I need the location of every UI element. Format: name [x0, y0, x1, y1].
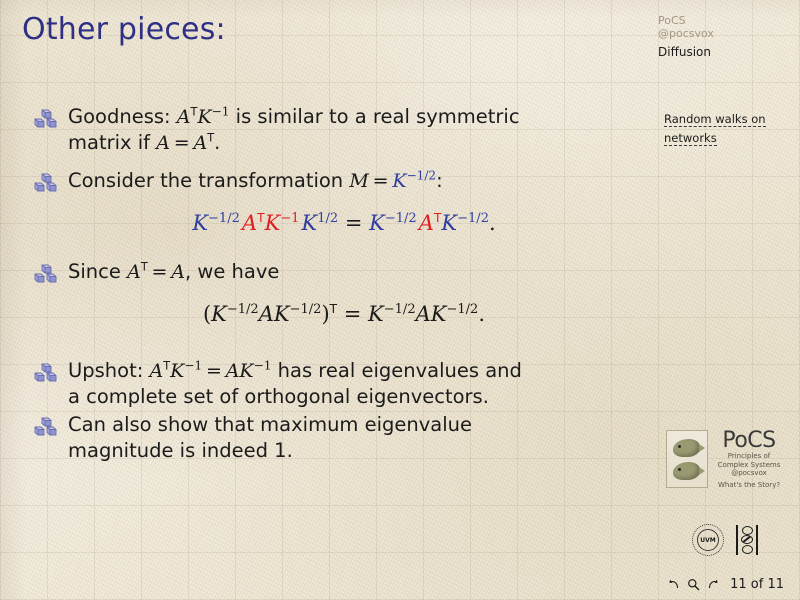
list-item: Can also show that maximum eigenvalue ma…: [34, 412, 654, 464]
toc-block[interactable]: Random walks on networks: [664, 108, 782, 146]
math-A: A: [150, 360, 164, 382]
header-block: PoCS @pocsvox Diffusion: [658, 14, 782, 60]
bullet5-line2: magnitude is indeed 1.: [68, 439, 293, 462]
pocs-logo[interactable]: PoCS Principles of Complex Systems @pocs…: [666, 430, 784, 494]
pocs-sub-1: Principles of: [714, 452, 784, 461]
fish-image: [666, 430, 708, 488]
display-equation-2: (K−1/2AK−1/2)T = K−1/2AK−1/2.: [34, 302, 654, 326]
math-A: A: [177, 106, 191, 128]
eq2-rparen: ): [321, 302, 329, 326]
spacer: [34, 158, 654, 168]
oso-logo-icon[interactable]: [736, 525, 758, 555]
list-item: Since AT = A, we have: [34, 259, 654, 290]
eq2-K1: K: [211, 302, 227, 326]
undo-arrow-icon[interactable]: [666, 577, 681, 592]
eq1-K5: K: [441, 211, 457, 235]
pocs-sub-2: Complex Systems: [714, 461, 784, 470]
list-item-text: Consider the transformation M = K−1/2:: [68, 168, 654, 194]
pocs-logo-text: PoCS Principles of Complex Systems @pocs…: [708, 430, 784, 490]
redo-arrow-icon[interactable]: [706, 577, 721, 592]
header-deck-title: Diffusion: [658, 45, 782, 60]
math-A: A: [127, 261, 141, 283]
oso-ring-icon: [742, 545, 753, 554]
math-equals: =: [202, 360, 226, 382]
eq1-A: A: [240, 211, 257, 235]
fish-icon: [673, 462, 700, 480]
bullet4-line2: a complete set of orthogonal eigenvector…: [68, 385, 489, 408]
bullet1-mid: is similar to a real symmetric: [229, 105, 519, 128]
spacer: [34, 340, 654, 358]
pocs-tagline: What's the Story?: [714, 480, 784, 490]
math-A: A: [226, 360, 240, 382]
eq1-K1: K: [192, 211, 208, 235]
bullet5-line1: Can also show that maximum eigenvalue: [68, 413, 472, 436]
math-K: K: [170, 360, 184, 382]
eq2-A2: A: [416, 302, 431, 326]
spacer: [34, 249, 654, 259]
math-equals: =: [170, 132, 194, 154]
math-exp-neg-half: −1/2: [407, 169, 437, 183]
magnifier-icon[interactable]: [686, 577, 701, 592]
list-item: Consider the transformation M = K−1/2:: [34, 168, 654, 199]
pocs-logo-name: PoCS: [714, 430, 784, 452]
math-exp-neg-one: −1: [184, 359, 202, 373]
oso-slash-icon: [741, 535, 753, 544]
bullet4-prefix: Upshot:: [68, 359, 150, 382]
bullet1-line2-suffix: .: [214, 131, 220, 154]
math-exp-neg-one: −1: [212, 105, 230, 119]
bullet1-prefix: Goodness:: [68, 105, 177, 128]
eq1-K4: K: [369, 211, 385, 235]
bullet4-mid: has real eigenvalues and: [271, 359, 521, 382]
bullet1-line2-prefix: matrix if: [68, 131, 156, 154]
bullet3-suffix: , we have: [185, 260, 279, 283]
eq1-transpose: T: [257, 211, 264, 225]
bullet2-prefix: Consider the transformation: [68, 169, 349, 192]
uvm-mark-label: UVM: [700, 537, 716, 544]
header-brand-pocs: PoCS: [658, 14, 782, 27]
header-brand-handle: @pocsvox: [658, 27, 782, 40]
eq1-period: .: [489, 211, 496, 235]
blocks-icon: [34, 168, 68, 199]
math-exp-neg-one: −1: [254, 359, 272, 373]
math-K: K: [239, 360, 253, 382]
fish-icon: [673, 439, 700, 457]
eq2-K3: K: [368, 302, 384, 326]
content-body: Goodness: ATK−1 is similar to a real sym…: [34, 104, 654, 466]
math-K-blue: K: [392, 170, 406, 192]
eq1-exp4: −1/2: [385, 211, 417, 226]
eq2-K2: K: [274, 302, 290, 326]
navigation-footer: 11 of 11: [666, 577, 784, 592]
eq1-equals: =: [338, 211, 369, 235]
blocks-icon: [34, 358, 68, 389]
math-A: A: [156, 132, 170, 154]
bullet2-suffix: :: [436, 169, 443, 192]
eq2-exp3: −1/2: [384, 302, 416, 317]
eq2-lparen: (: [203, 302, 211, 326]
page-counter: 11 of 11: [730, 577, 784, 592]
eq2-exp1: −1/2: [227, 302, 259, 317]
math-equals: =: [148, 261, 172, 283]
institution-logos: UVM: [692, 524, 758, 556]
eq2-exp2: −1/2: [290, 302, 322, 317]
blocks-icon: [34, 259, 68, 290]
math-A: A: [171, 261, 185, 283]
eq2-A: A: [259, 302, 274, 326]
list-item-text: Upshot: ATK−1 = AK−1 has real eigenvalue…: [68, 358, 654, 410]
uvm-seal-icon[interactable]: UVM: [692, 524, 724, 556]
math-transpose: T: [141, 261, 148, 274]
eq1-exp2: −1: [280, 211, 299, 226]
eq2-exp4: −1/2: [446, 302, 478, 317]
eq2-equals: =: [337, 302, 368, 326]
eq2-K4: K: [431, 302, 447, 326]
bullet3-prefix: Since: [68, 260, 127, 283]
list-item: Upshot: ATK−1 = AK−1 has real eigenvalue…: [34, 358, 654, 410]
page-title: Other pieces:: [22, 12, 226, 47]
math-K: K: [197, 106, 211, 128]
list-item-text: Can also show that maximum eigenvalue ma…: [68, 412, 654, 464]
pocs-sub-3: @pocsvox: [714, 469, 784, 478]
list-item-text: Since AT = A, we have: [68, 259, 654, 285]
eq2-transpose: T: [330, 302, 337, 316]
display-equation-1: K−1/2 ATK−1 K1/2 = K−1/2 ATK−1/2.: [34, 211, 654, 235]
eq1-exp1: −1/2: [208, 211, 240, 226]
slide-canvas: Other pieces: PoCS @pocsvox Diffusion Ra…: [0, 0, 800, 600]
eq1-exp3: 1/2: [317, 211, 338, 226]
oso-ring-icon: [742, 526, 753, 535]
eq2-period: .: [478, 302, 485, 326]
list-item: Goodness: ATK−1 is similar to a real sym…: [34, 104, 654, 156]
eq1-K2: K: [265, 211, 281, 235]
toc-current-section[interactable]: Random walks on networks: [664, 112, 766, 146]
eq1-K3: K: [299, 211, 317, 235]
list-item-text: Goodness: ATK−1 is similar to a real sym…: [68, 104, 654, 156]
eq1-exp5: −1/2: [457, 211, 489, 226]
uvm-seal-inner: UVM: [697, 529, 719, 551]
math-A: A: [194, 132, 208, 154]
blocks-icon: [34, 104, 68, 135]
math-M: M: [349, 170, 368, 192]
blocks-icon: [34, 412, 68, 443]
eq1-A2: A: [417, 211, 434, 235]
math-equals: =: [369, 170, 393, 192]
